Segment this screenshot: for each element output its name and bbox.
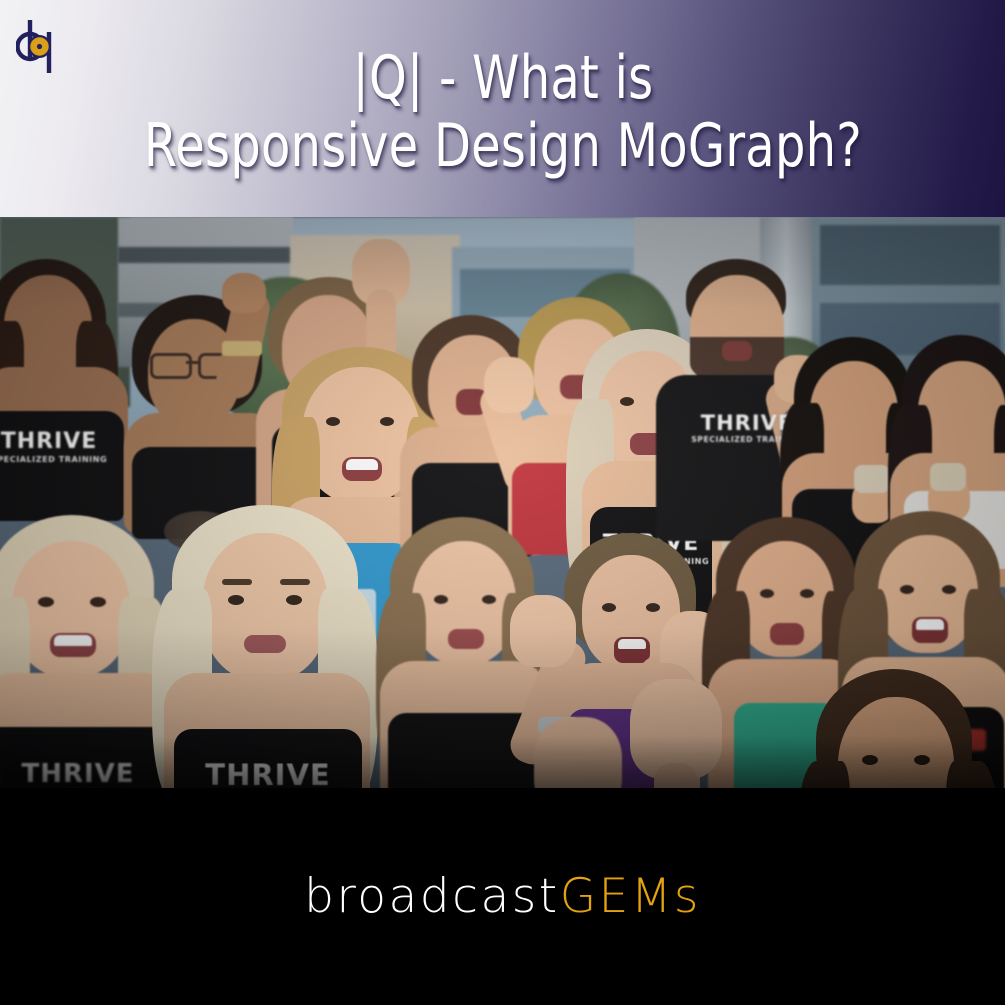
building-right-glass-1 (820, 225, 1000, 285)
broadcastgems-logotype[interactable]: broadcastGEMs (0, 788, 1005, 1005)
footer-bar: broadcastGEMs (0, 788, 1005, 1005)
person-back-1: THRIVESPECIALIZED TRAINING (0, 259, 132, 519)
brand-accent-text: GEMs (560, 869, 701, 924)
balcony-shade (118, 247, 293, 263)
brand-primary-text: broadcast (304, 869, 560, 924)
title-line-1: |Q| - What is (352, 50, 653, 108)
title-line-2: Responsive Design MoGraph? (143, 118, 861, 176)
poster-canvas: |Q| - What is Responsive Design MoGraph? (0, 0, 1005, 1005)
foreground-shadow (0, 737, 1005, 788)
header-title-block: |Q| - What is Responsive Design MoGraph? (0, 0, 1005, 217)
crowd-photo: THRIVESPECIALIZED TRAINING (0, 217, 1005, 788)
header-banner: |Q| - What is Responsive Design MoGraph? (0, 0, 1005, 217)
